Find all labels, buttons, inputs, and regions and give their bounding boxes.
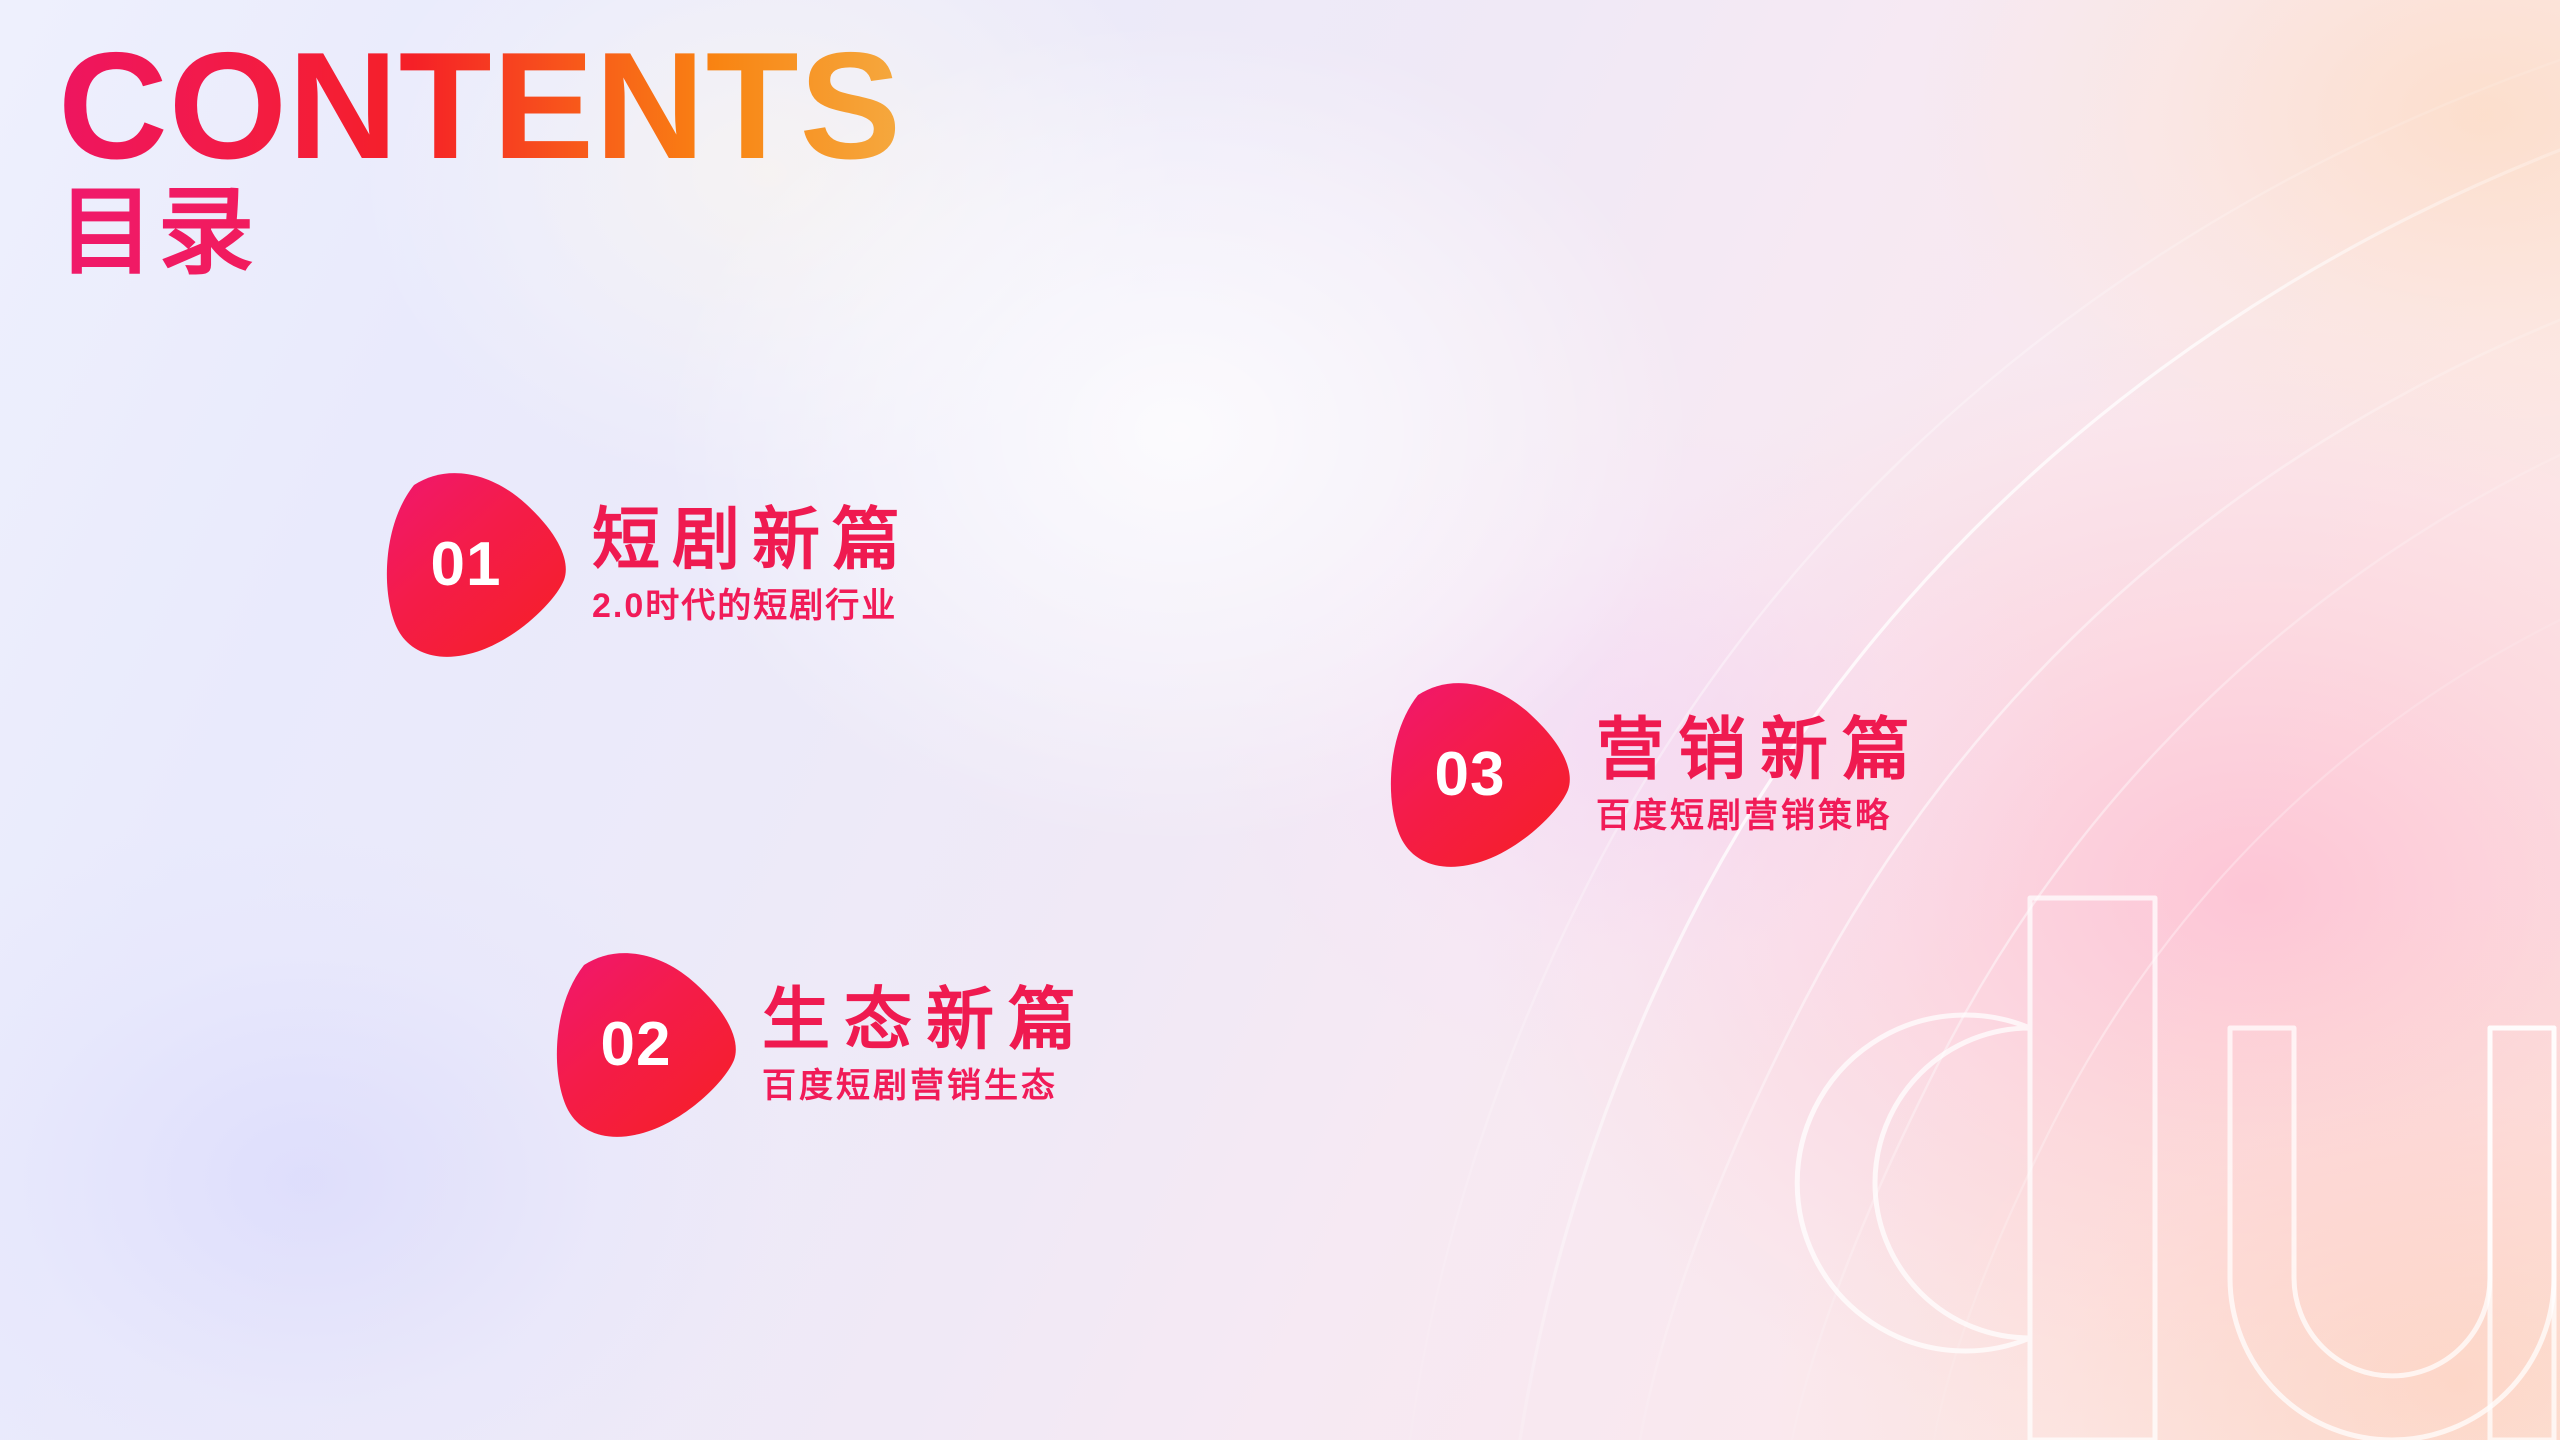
agenda-subtitle-02: 百度短剧营销生态: [762, 1066, 1090, 1107]
agenda-item-01[interactable]: 01 短剧新篇 2.0时代的短剧行业: [378, 468, 912, 660]
page-title-english: CONTENTS: [58, 26, 902, 187]
agenda-item-02[interactable]: 02 生态新篇 百度短剧营销生态: [548, 948, 1090, 1140]
agenda-item-03[interactable]: 03 营销新篇 百度短剧营销策略: [1382, 678, 1924, 870]
agenda-text-03: 营销新篇 百度短剧营销策略: [1596, 712, 1924, 837]
agenda-subtitle-03: 百度短剧营销策略: [1596, 796, 1924, 837]
page-title-block: CONTENTS 目录: [58, 26, 902, 285]
agenda-subtitle-01: 2.0时代的短剧行业: [592, 586, 912, 627]
page-title-chinese: 目录: [58, 181, 902, 285]
agenda-badge-01[interactable]: 01: [378, 468, 574, 660]
agenda-badge-03[interactable]: 03: [1382, 678, 1578, 870]
agenda-number-02: 02: [601, 1009, 672, 1080]
agenda-text-01: 短剧新篇 2.0时代的短剧行业: [592, 502, 912, 627]
agenda-number-01: 01: [431, 529, 502, 600]
du-watermark-icon: [1797, 898, 2554, 1440]
agenda-title-01: 短剧新篇: [592, 502, 912, 578]
agenda-title-02: 生态新篇: [762, 982, 1090, 1058]
agenda-badge-02[interactable]: 02: [548, 948, 744, 1140]
agenda-title-03: 营销新篇: [1596, 712, 1924, 788]
agenda-text-02: 生态新篇 百度短剧营销生态: [762, 982, 1090, 1107]
contents-slide: CONTENTS 目录 01 短剧新篇 2.0时代的短剧行业 02 生态新篇 百…: [0, 0, 2560, 1440]
agenda-number-03: 03: [1435, 739, 1506, 810]
